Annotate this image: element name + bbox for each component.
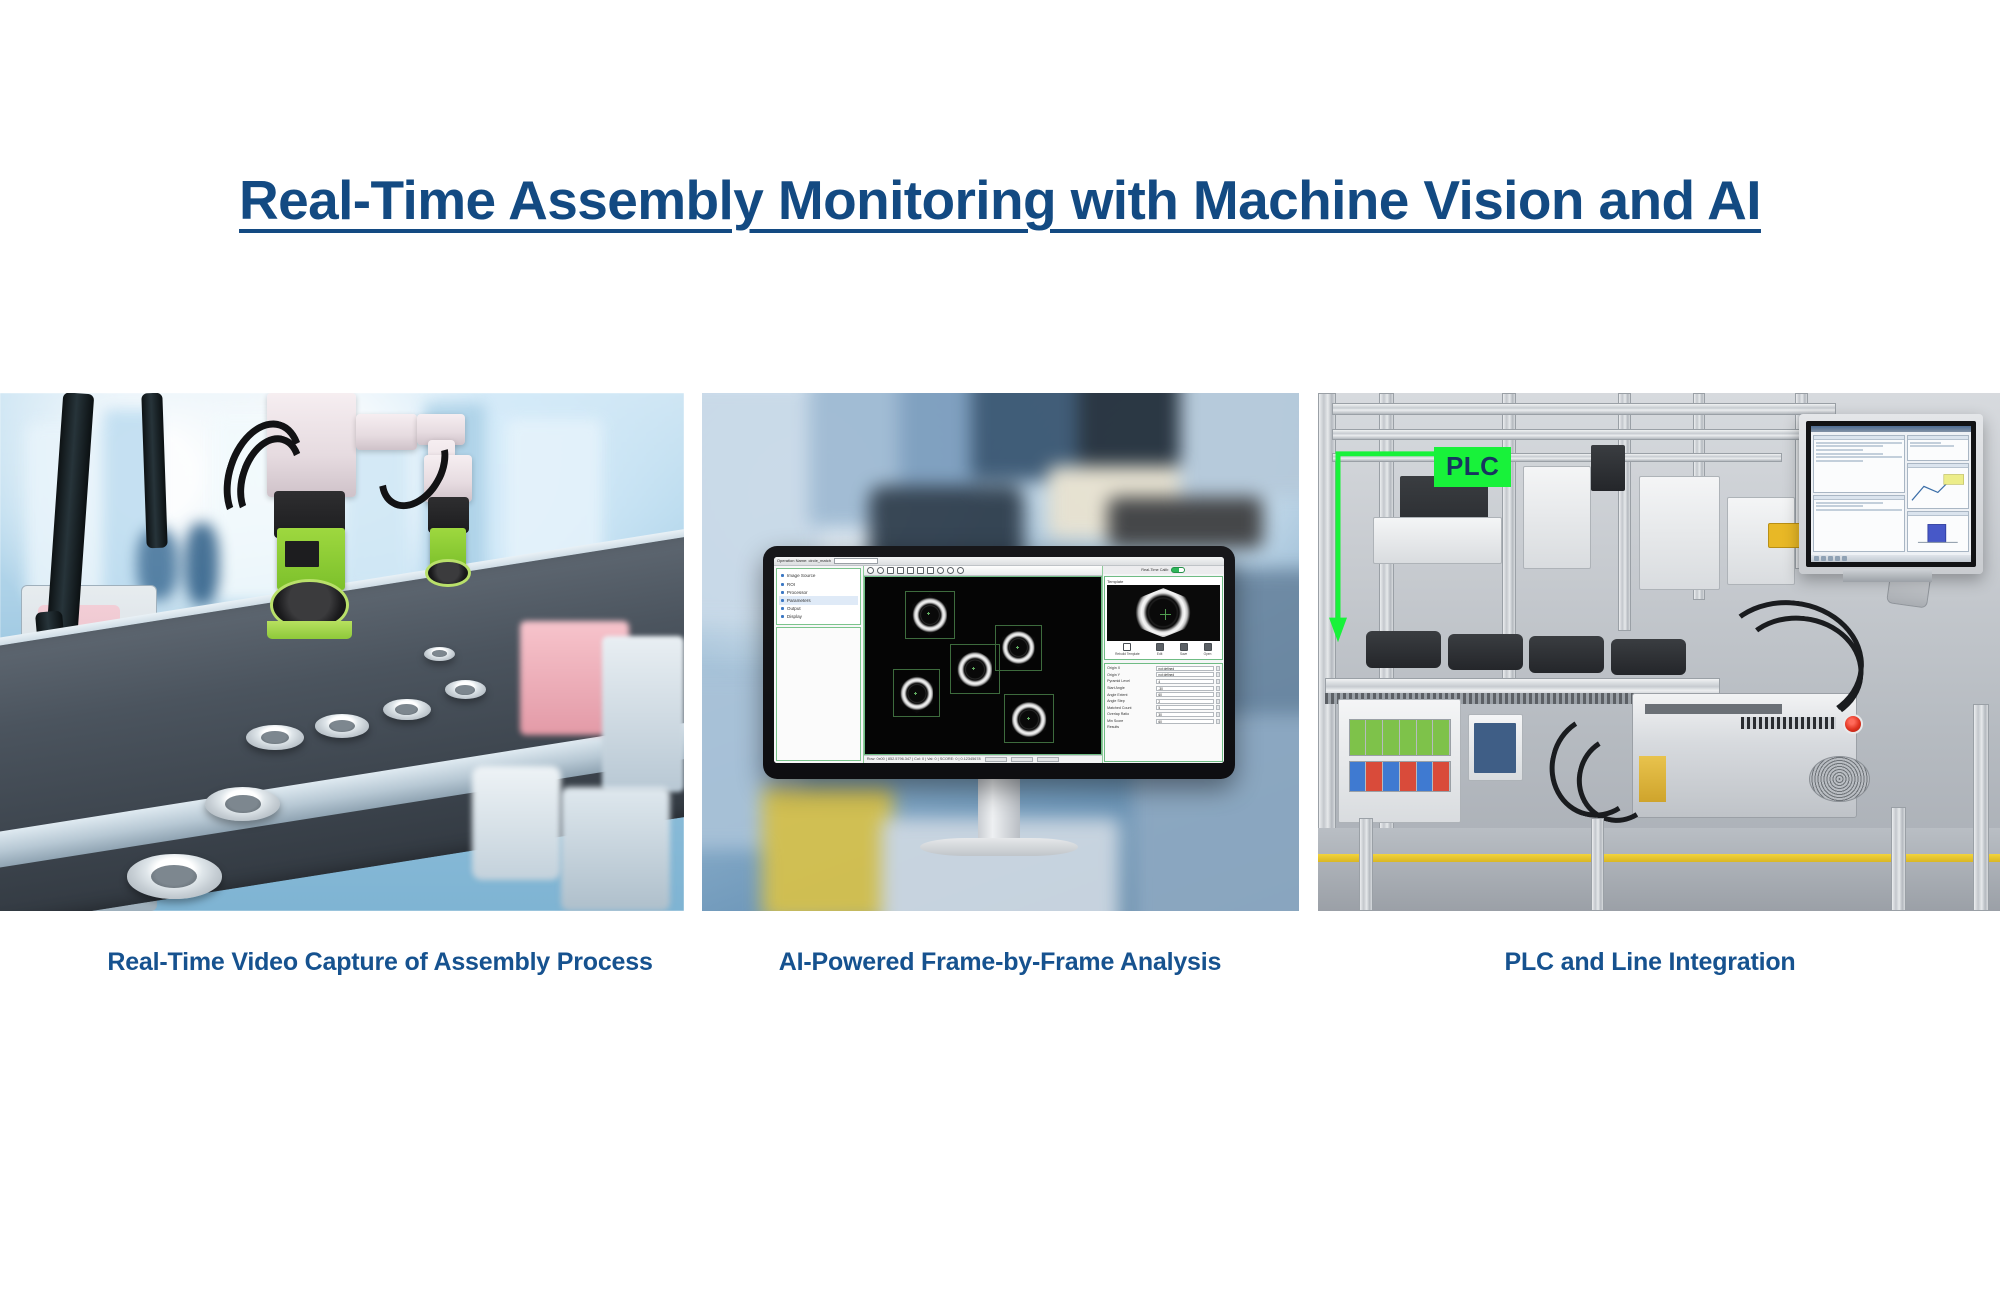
line	[1816, 509, 1902, 511]
fit-icon[interactable]	[887, 567, 894, 574]
bullet-icon	[781, 591, 784, 594]
plc-badge: PLC	[1434, 447, 1512, 487]
line	[1816, 456, 1902, 458]
apply-button[interactable]	[985, 757, 1007, 762]
sidebar-item-parameters[interactable]: Parameters	[779, 596, 858, 604]
title-container: Real-Time Assembly Monitoring with Machi…	[0, 172, 2000, 230]
frame-leg	[1359, 818, 1373, 911]
part-ring	[424, 647, 455, 661]
title-input-field[interactable]	[834, 558, 878, 564]
part-ring	[205, 787, 280, 821]
monitor-bezel: Operation Name: circle_match Image Sourc…	[763, 546, 1235, 779]
template-toolbar: Rebuild Template Edit Save	[1107, 641, 1219, 657]
sidebar-item-processor[interactable]: Processor	[779, 588, 858, 596]
sidebar-item-image-source[interactable]: Image Source	[779, 572, 858, 580]
foreground-fixture	[472, 766, 561, 880]
card-ai-analysis[interactable]: Operation Name: circle_match Image Sourc…	[702, 393, 1299, 911]
panel-lines	[1814, 500, 1904, 513]
plc-line-photo: PLC	[1318, 393, 2000, 911]
hmi-bezel	[1806, 421, 1976, 568]
terminal	[1400, 720, 1417, 754]
terminal-block	[1349, 761, 1451, 792]
param-row: Matched Count 5	[1107, 705, 1219, 710]
realtime-toggle[interactable]	[1171, 567, 1185, 573]
sidebar-label: Parameters	[787, 598, 811, 603]
param-value[interactable]: 60	[1156, 719, 1213, 724]
bullet-icon	[781, 607, 784, 610]
results-row: Results	[1107, 725, 1219, 729]
terminal	[1433, 720, 1450, 754]
sidebar-empty-area	[776, 627, 861, 761]
detection-center-icon	[914, 692, 917, 695]
open-template-button[interactable]: Open	[1204, 643, 1212, 656]
hmi-monitor[interactable]	[1799, 414, 1983, 575]
spinner-icon[interactable]	[1216, 666, 1220, 671]
param-value[interactable]: 2	[1156, 699, 1213, 704]
terminal	[1366, 762, 1383, 791]
hmi-content	[1811, 433, 1971, 555]
line	[1910, 442, 1941, 444]
hmi-screen	[1811, 426, 1971, 563]
zoom-in-icon[interactable]	[867, 567, 874, 574]
hmi-left-column	[1813, 435, 1905, 553]
template-panel: Template Rebuild Template	[1104, 576, 1222, 660]
sidebar-label: Image Source	[787, 573, 816, 578]
line	[1910, 445, 1953, 447]
ellipse-icon[interactable]	[937, 567, 944, 574]
bullet-icon	[781, 599, 784, 602]
sidebar-item-output[interactable]: Output	[779, 605, 858, 613]
open-folder-icon	[1204, 643, 1212, 651]
results-label: Results	[1107, 725, 1154, 729]
hmi-stand	[1843, 569, 1932, 582]
status-text: Row: 0x00 | 852.5796.347 | Col: 0 | Val:…	[867, 757, 981, 761]
monitor-screen: Operation Name: circle_match Image Sourc…	[774, 557, 1224, 763]
spinner-icon[interactable]	[1216, 672, 1220, 677]
caption-plc-integration: PLC and Line Integration	[1320, 945, 1980, 980]
sensor-module	[1591, 445, 1625, 492]
monitor-base	[920, 838, 1078, 855]
frame-beam	[1332, 403, 1837, 414]
spinner-icon[interactable]	[1216, 679, 1220, 684]
frame-leg	[1891, 807, 1906, 911]
circle-icon[interactable]	[947, 567, 954, 574]
pallet	[1529, 636, 1604, 672]
software-canvas-area: Row: 0x00 | 852.5796.347 | Col: 0 | Val:…	[864, 566, 1102, 763]
cooling-fan-vent	[1809, 756, 1870, 803]
terminal	[1400, 762, 1417, 791]
terminal	[1417, 720, 1434, 754]
confirm-button[interactable]	[1011, 757, 1033, 762]
sidebar-label: Processor	[787, 590, 808, 595]
hmi-gauge-panel	[1907, 511, 1969, 552]
sidebar-item-roi[interactable]: ROI	[779, 580, 858, 588]
star-icon[interactable]	[957, 567, 964, 574]
terminal	[1417, 762, 1434, 791]
param-value[interactable]: 5	[1156, 705, 1213, 710]
rebuild-template-button[interactable]: Rebuild Template	[1115, 643, 1140, 656]
taskbar-icon[interactable]	[1835, 556, 1840, 561]
template-origin-icon	[1160, 609, 1171, 620]
frame-leg	[1591, 818, 1605, 911]
edit-template-button[interactable]: Edit	[1156, 643, 1164, 656]
tool-label: Edit	[1157, 652, 1163, 656]
line	[1816, 445, 1883, 447]
terminal	[1433, 762, 1450, 791]
sidebar-tree: Image Source ROI Processor	[776, 568, 861, 625]
line	[1816, 449, 1864, 451]
spinner-icon[interactable]	[1216, 705, 1220, 710]
param-value[interactable]: 4	[1156, 679, 1213, 684]
param-label: Origin Y	[1107, 673, 1154, 677]
detection-center-icon	[1027, 717, 1030, 720]
taskbar-icon[interactable]	[1821, 556, 1826, 561]
level-gauge	[1908, 516, 1968, 551]
param-label: Matched Count	[1107, 706, 1154, 710]
grid-icon[interactable]	[897, 567, 904, 574]
param-label: Angle Extent	[1107, 693, 1154, 697]
hmi-panel	[1813, 435, 1905, 493]
detection-center-icon	[972, 667, 975, 670]
software-titlebar: Operation Name: circle_match	[774, 557, 1224, 566]
param-value[interactable]: -30	[1156, 686, 1213, 691]
caption-video-capture: Real-Time Video Capture of Assembly Proc…	[60, 945, 700, 980]
rect-icon[interactable]	[907, 567, 914, 574]
detection-canvas[interactable]	[864, 576, 1102, 755]
param-label: Overlap Ratio	[1107, 712, 1154, 716]
tool-label: Rebuild Template	[1115, 652, 1140, 656]
software-sidebar: Image Source ROI Processor	[774, 566, 864, 763]
param-label: Start Angle	[1107, 686, 1154, 690]
card-plc-integration[interactable]: PLC	[1318, 393, 2000, 911]
terminal	[1383, 720, 1400, 754]
monitor-neck	[978, 777, 1020, 844]
line	[1816, 502, 1883, 504]
line	[1816, 460, 1864, 462]
detection-center-icon	[1016, 646, 1019, 649]
slide-root: Real-Time Assembly Monitoring with Machi…	[0, 0, 2000, 1304]
new-template-icon	[1123, 643, 1131, 651]
part-ring	[315, 714, 370, 738]
hmi-trend-panel	[1907, 463, 1969, 510]
square-icon[interactable]	[917, 567, 924, 574]
background-fixture	[602, 636, 684, 791]
param-row: Origin Y not defined	[1107, 672, 1219, 677]
line	[1816, 453, 1883, 455]
spinner-icon[interactable]	[1216, 719, 1220, 724]
param-value[interactable]: 60	[1156, 692, 1213, 697]
image-row: Operation Name: circle_match Image Sourc…	[0, 393, 2000, 913]
param-row: Angle Extent 60	[1107, 692, 1219, 697]
line	[1816, 505, 1864, 507]
param-value[interactable]: not defined	[1156, 666, 1213, 671]
param-value[interactable]: 30	[1156, 712, 1213, 717]
terminal	[1350, 720, 1367, 754]
canvas-toolbar	[864, 566, 1102, 576]
window-title: Operation Name: circle_match	[777, 558, 831, 563]
taskbar-icon[interactable]	[1814, 556, 1819, 561]
bullet-icon	[781, 583, 784, 586]
page-title: Real-Time Assembly Monitoring with Machi…	[239, 172, 1761, 230]
assembly-line-photo	[0, 393, 684, 911]
part-ring	[127, 854, 223, 899]
param-label: Pyramid Level	[1107, 679, 1154, 683]
captions-row: Real-Time Video Capture of Assembly Proc…	[0, 945, 2000, 1065]
software-right-panel: Real-Time Calib Template	[1102, 566, 1223, 763]
frame-leg	[1973, 704, 1989, 911]
frame-beam	[1332, 429, 1809, 439]
detection-center-icon	[927, 612, 930, 615]
camera-light-ring-1	[267, 621, 353, 639]
hmi-taskbar	[1811, 555, 1971, 562]
spinner-icon[interactable]	[1216, 699, 1220, 704]
sidebar-label: Output	[787, 606, 801, 611]
hmi-panel	[1813, 495, 1905, 553]
realtime-toggle-row: Real-Time Calib	[1103, 566, 1223, 574]
software-body: Image Source ROI Processor	[774, 566, 1224, 763]
hmi-panel	[1907, 435, 1969, 461]
cancel-button[interactable]	[1037, 757, 1059, 762]
spinner-icon[interactable]	[1216, 712, 1220, 717]
card-video-capture[interactable]	[0, 393, 684, 911]
panel-lines	[1908, 440, 1968, 450]
edit-icon	[1156, 643, 1164, 651]
spinner-icon[interactable]	[1216, 692, 1220, 697]
param-label: Min Score	[1107, 719, 1154, 723]
zoom-out-icon[interactable]	[877, 567, 884, 574]
bullet-icon	[781, 574, 784, 577]
terminal	[1366, 720, 1383, 754]
param-row: Origin X not defined	[1107, 666, 1219, 671]
sidebar-item-display[interactable]: Display	[779, 613, 858, 621]
tool-label: Save	[1180, 652, 1187, 656]
pallet	[1611, 639, 1686, 675]
param-label: Angle Step	[1107, 699, 1154, 703]
template-label: Template	[1107, 579, 1219, 584]
hmi-right-column	[1907, 435, 1969, 553]
terminal	[1383, 762, 1400, 791]
save-template-button[interactable]: Save	[1180, 643, 1188, 656]
hmi-small-panel	[1468, 714, 1523, 781]
terminal-block	[1349, 719, 1451, 755]
parameters-panel: Origin X not defined Origin Y not define…	[1104, 663, 1222, 762]
hmi-titlebar	[1811, 426, 1971, 432]
realtime-label: Real-Time Calib	[1141, 568, 1168, 572]
bullet-icon	[781, 615, 784, 618]
panel-lines	[1814, 440, 1904, 464]
param-label: Origin X	[1107, 666, 1154, 670]
taskbar-icon[interactable]	[1828, 556, 1833, 561]
foreground-fixture-2	[561, 787, 670, 911]
sidebar-label: ROI	[787, 582, 795, 587]
status-bar: Row: 0x00 | 852.5796.347 | Col: 0 | Val:…	[864, 755, 1102, 763]
param-row: Angle Step 2	[1107, 699, 1219, 704]
template-preview	[1107, 585, 1219, 641]
line	[1816, 442, 1902, 444]
taskbar-icon[interactable]	[1842, 556, 1847, 561]
machine-module	[1639, 476, 1721, 590]
param-value[interactable]: not defined	[1156, 672, 1213, 677]
param-row: Pyramid Level 4	[1107, 679, 1219, 684]
param-row: Overlap Ratio 30	[1107, 712, 1219, 717]
terminal	[1350, 762, 1367, 791]
pentagon-icon[interactable]	[927, 567, 934, 574]
part-ring	[445, 680, 486, 699]
trend-chart	[1908, 468, 1968, 509]
caption-ai-analysis: AI-Powered Frame-by-Frame Analysis	[700, 945, 1300, 980]
save-icon	[1180, 643, 1188, 651]
vision-software-photo: Operation Name: circle_match Image Sourc…	[702, 393, 1299, 911]
camera-lens-2	[425, 559, 470, 587]
param-row: Start Angle -30	[1107, 686, 1219, 691]
tool-label: Open	[1204, 652, 1212, 656]
part-ring	[383, 699, 431, 721]
sidebar-label: Display	[787, 614, 802, 619]
param-row: Min Score 60	[1107, 719, 1219, 724]
spinner-icon[interactable]	[1216, 686, 1220, 691]
machine-module	[1523, 466, 1591, 570]
